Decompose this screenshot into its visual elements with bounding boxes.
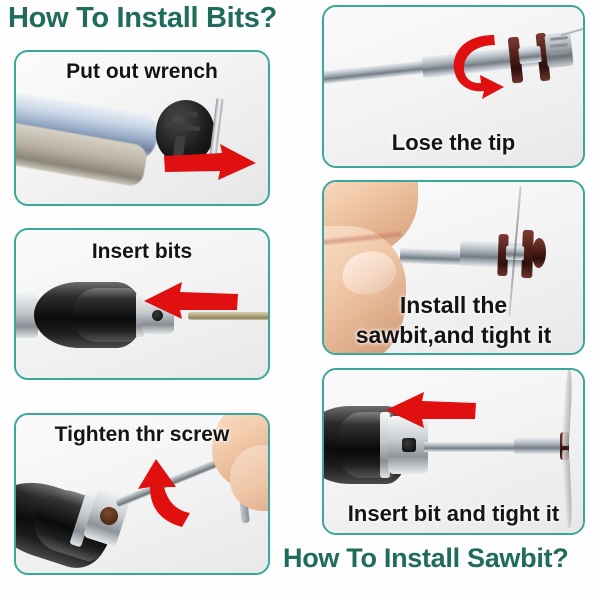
panel-insert-bits[interactable]: Insert bits [14,228,270,380]
arrow-right-icon [164,144,258,184]
photo-insert-bit-and-tight-it [324,370,583,533]
panel-install-the-sawbit[interactable]: Install the sawbit,and tight it [322,180,585,355]
arrow-curved-counterclockwise-icon [446,29,520,101]
panel-insert-bit-and-tight-it[interactable]: Insert bit and tight it [322,368,585,535]
photo-install-the-sawbit [324,182,583,353]
photo-tighten-the-screw [16,415,268,573]
panel-put-out-wrench[interactable]: Put out wrench [14,50,270,206]
photo-insert-bits [16,230,268,378]
panel-lose-the-tip[interactable]: Lose the tip [322,5,585,168]
panel-tighten-the-screw[interactable]: Tighten thr screw [14,413,270,575]
photo-put-out-wrench [16,52,268,204]
arrow-left-icon [138,282,238,322]
arrow-left-icon [382,392,476,430]
page-title-install-bits: How To Install Bits? [8,2,277,35]
arrow-curved-counterclockwise-icon [132,455,202,531]
photo-lose-the-tip [324,7,583,166]
page-title-install-sawbit: How To Install Sawbit? [283,543,568,574]
